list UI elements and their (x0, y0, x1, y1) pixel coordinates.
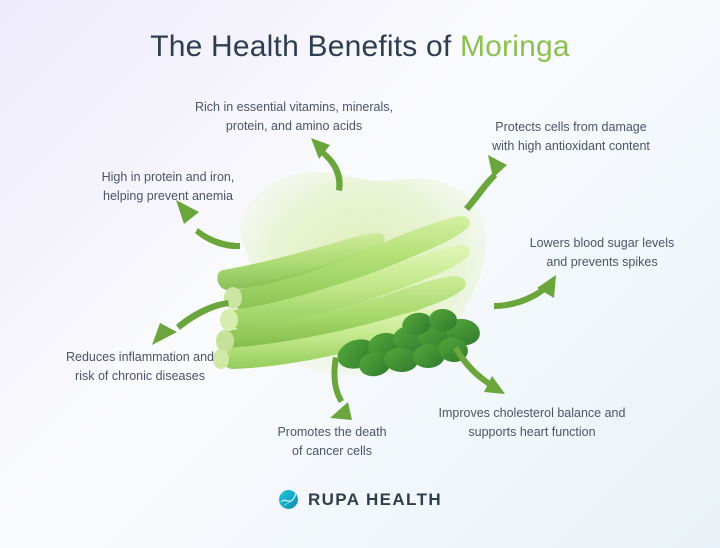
benefit-label-cancer-cells: Promotes the death of cancer cells (244, 423, 420, 462)
benefit-label-cholesterol-heart: Improves cholesterol balance and support… (404, 404, 660, 443)
rupa-globe-icon (278, 489, 299, 510)
page-title: The Health Benefits of Moringa (0, 30, 720, 64)
brand-logo: RUPA HEALTH (0, 489, 720, 510)
benefit-label-blood-sugar: Lowers blood sugar levels and prevents s… (498, 234, 706, 273)
title-prefix: The Health Benefits of (150, 30, 460, 63)
brand-name: RUPA HEALTH (308, 490, 442, 510)
benefit-label-protein-iron: High in protein and iron, helping preven… (52, 168, 284, 207)
benefit-label-vitamins-minerals: Rich in essential vitamins, minerals, pr… (148, 98, 440, 137)
benefit-label-inflammation: Reduces inflammation and risk of chronic… (32, 348, 248, 387)
benefit-label-antioxidants: Protects cells from damage with high ant… (442, 118, 700, 157)
title-accent-moringa: Moringa (460, 30, 570, 63)
infographic-canvas: The Health Benefits of Moringa (0, 0, 720, 548)
